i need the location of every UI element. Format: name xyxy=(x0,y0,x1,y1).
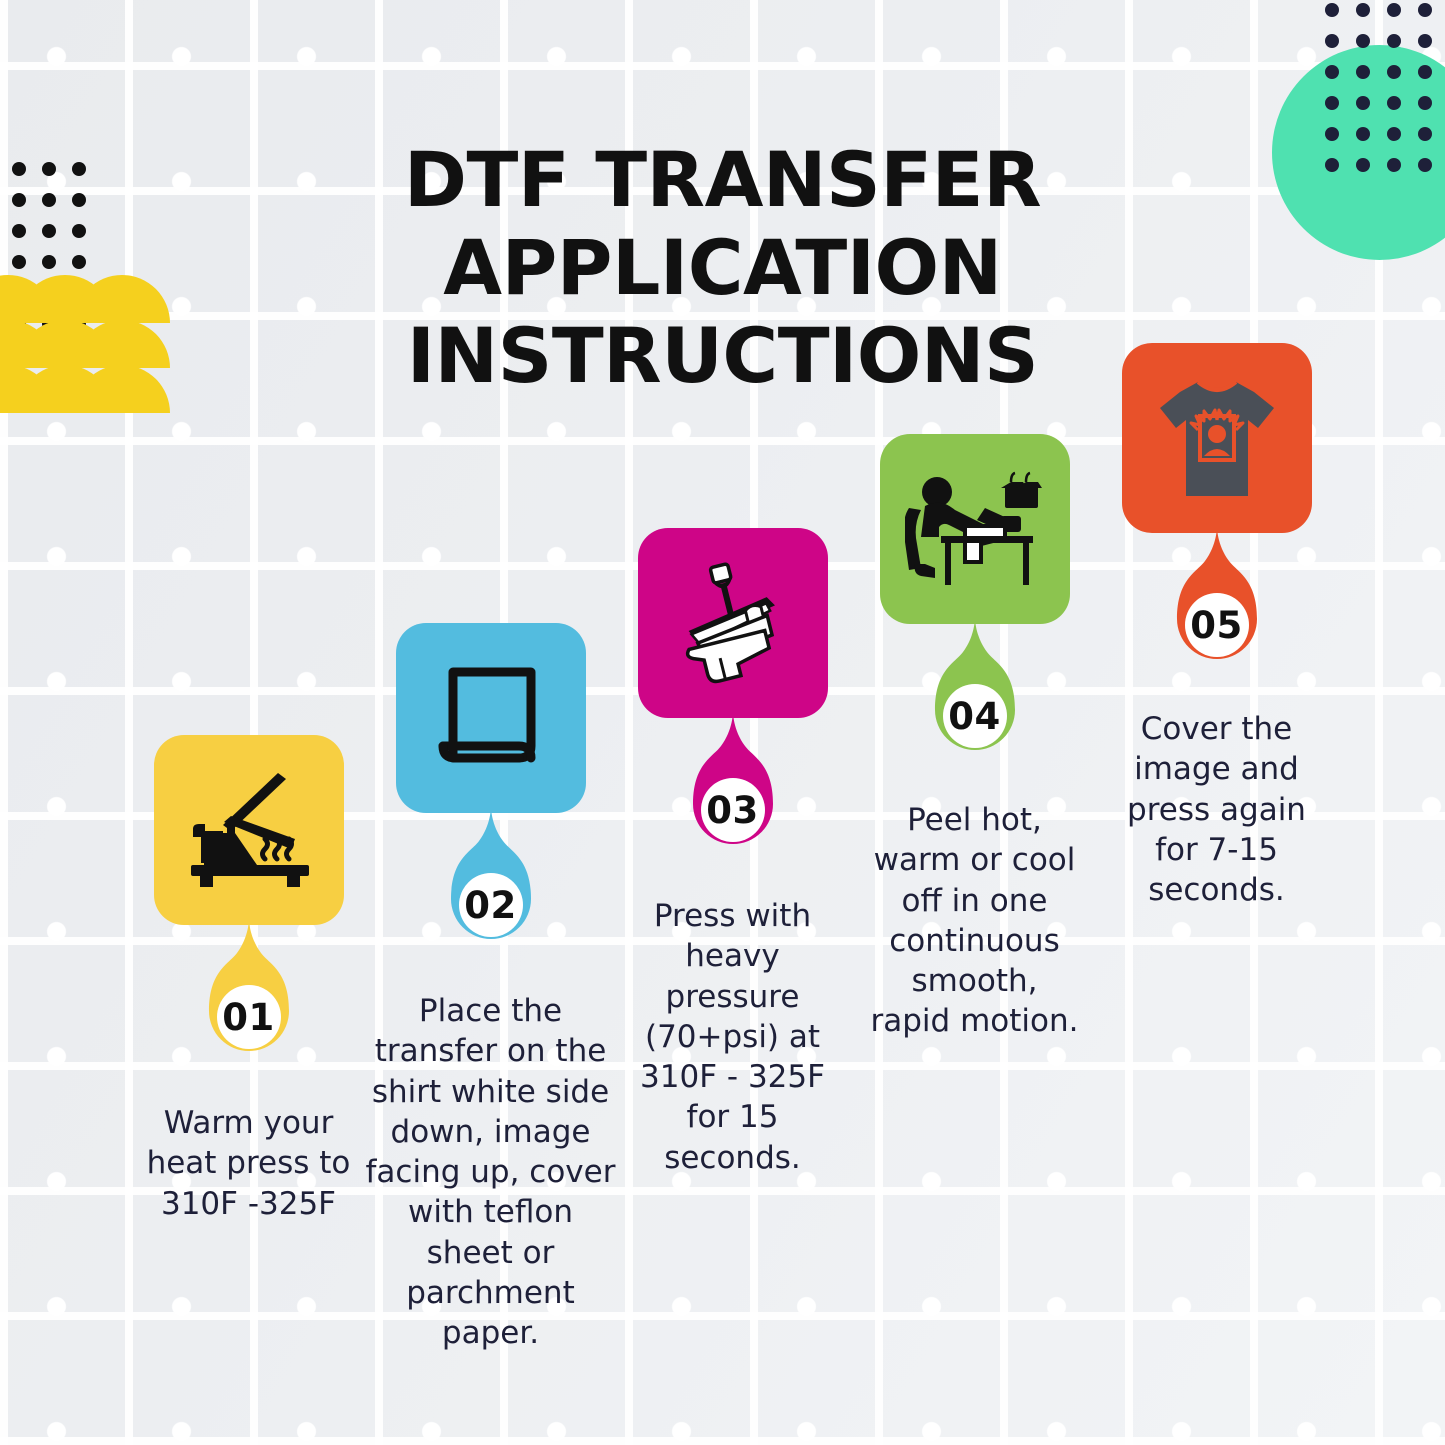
step-03-description: Press with heavy pressure (70+psi) at 31… xyxy=(615,896,850,1178)
transfer-sheet-icon xyxy=(431,658,551,778)
heat-press-open-icon xyxy=(183,769,315,891)
step-01: 01 Warm your heat press to 310F -325F xyxy=(131,735,366,1224)
step-04-connector: 04 xyxy=(915,618,1035,778)
step-04-description: Peel hot, warm or cool off in one contin… xyxy=(867,800,1082,1042)
step-04: 04 Peel hot, warm or cool off in one con… xyxy=(857,434,1092,1042)
step-04-card[interactable] xyxy=(880,434,1070,624)
heat-press-machine-icon xyxy=(668,558,798,688)
step-04-number: 04 xyxy=(943,684,1007,748)
step-01-connector: 01 xyxy=(189,919,309,1079)
step-05-card[interactable] xyxy=(1122,343,1312,533)
peel-transfer-person-icon xyxy=(905,466,1045,592)
step-02: 02 Place the transfer on the shirt white… xyxy=(373,623,608,1354)
printed-tshirt-icon xyxy=(1154,374,1280,502)
step-05-description: Cover the image and press again for 7-15… xyxy=(1108,709,1326,910)
steps-container: 01 Warm your heat press to 310F -325F xyxy=(0,0,1445,1445)
step-03-card[interactable] xyxy=(638,528,828,718)
step-03: 03 Press with heavy pressure (70+psi) at… xyxy=(615,528,850,1178)
step-01-card[interactable] xyxy=(154,735,344,925)
step-02-connector: 02 xyxy=(431,807,551,967)
step-03-number: 03 xyxy=(701,778,765,842)
step-05-connector: 05 xyxy=(1157,527,1277,687)
step-03-connector: 03 xyxy=(673,712,793,872)
step-02-card[interactable] xyxy=(396,623,586,813)
step-05-number: 05 xyxy=(1185,593,1249,657)
step-05: 05 Cover the image and press again for 7… xyxy=(1099,343,1334,910)
step-01-description: Warm your heat press to 310F -325F xyxy=(131,1103,366,1224)
step-02-description: Place the transfer on the shirt white si… xyxy=(365,991,617,1354)
step-01-number: 01 xyxy=(217,985,281,1049)
step-02-number: 02 xyxy=(459,873,523,937)
